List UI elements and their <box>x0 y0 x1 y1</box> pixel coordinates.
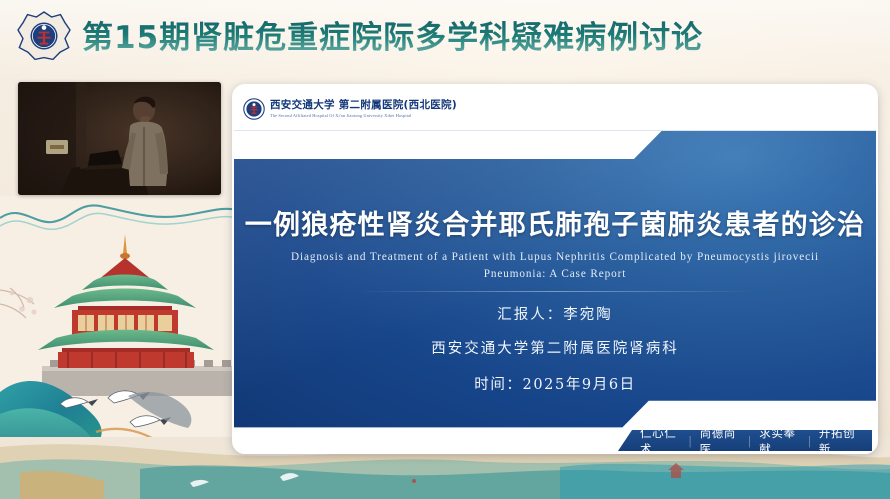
hospital-emblem-icon <box>16 9 72 67</box>
screen: 第15期肾脏危重症院际多学科疑难病例讨论 <box>0 0 890 499</box>
slide-date: 时间：2025年9月6日 <box>234 373 876 394</box>
slide-department: 西安交通大学第二附属医院肾病科 <box>234 337 876 358</box>
slide-presenter: 汇报人：李宛陶 <box>234 303 876 324</box>
slide-title-cn: 一例狼疮性肾炎合并耶氏肺孢子菌肺炎患者的诊治 <box>234 209 876 243</box>
slide-divider <box>356 291 754 292</box>
slide-institution-en: The Second Affiliated Hospital Of Xi'an … <box>270 112 457 119</box>
presenter-video-feed[interactable] <box>18 82 221 195</box>
presentation-slide[interactable]: 西安交通大学 第二附属医院(西北医院) The Second Affiliate… <box>232 84 878 454</box>
slide-institution-cn: 西安交通大学 第二附属医院(西北医院) <box>270 99 457 111</box>
motto-separator-3: | <box>807 434 811 448</box>
motto-separator-2: | <box>748 434 752 448</box>
slide-title-en-line1: Diagnosis and Treatment of a Patient wit… <box>247 249 863 266</box>
motto-separator-1: | <box>688 434 692 448</box>
slide-title-en: Diagnosis and Treatment of a Patient wit… <box>247 249 863 283</box>
footer-motto-bar: 仁心仁术 | 尚德尚医 | 求实奉献 | 开拓创新 <box>618 430 872 451</box>
page-header: 第15期肾脏危重症院际多学科疑难病例讨论 <box>0 0 890 78</box>
page-title: 第15期肾脏危重症院际多学科疑难病例讨论 <box>82 18 703 58</box>
slide-content: 一例狼疮性肾炎合并耶氏肺孢子菌肺炎患者的诊治 Diagnosis and Tre… <box>234 131 876 454</box>
xjtu-hospital-logo-icon <box>243 98 265 120</box>
slide-title-en-line2: Pneumonia: A Case Report <box>247 266 863 283</box>
slide-header: 西安交通大学 第二附属医院(西北医院) The Second Affiliate… <box>234 86 876 131</box>
